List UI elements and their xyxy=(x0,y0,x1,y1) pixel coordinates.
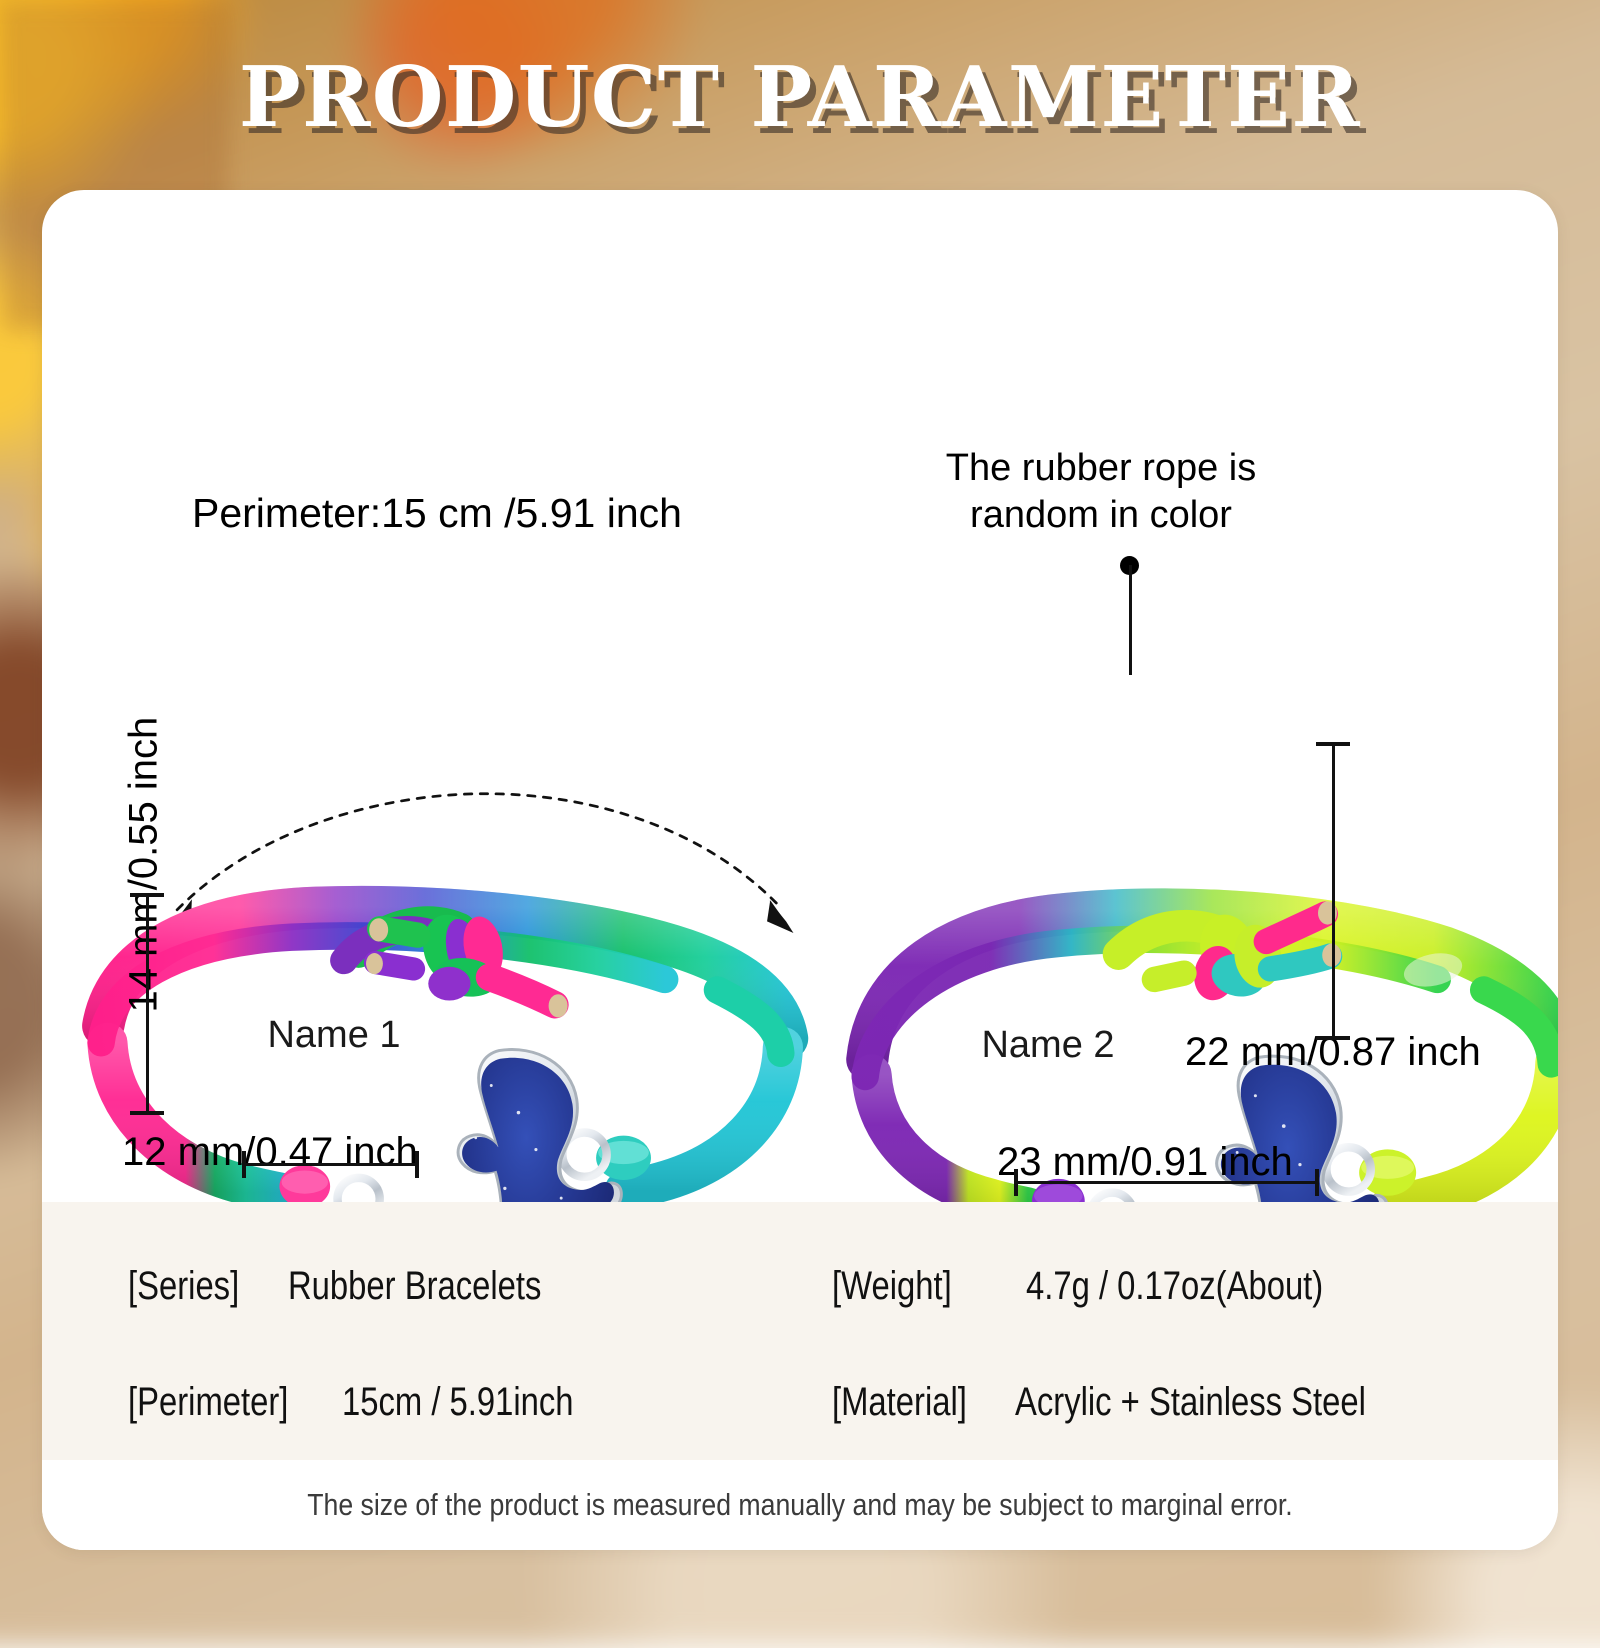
product-parameter-card: Name 1 Name 2 Perimeter:15 cm /5.91 inch… xyxy=(42,190,1558,1550)
spec-row-material: [Material] Acrylic + Stainless Steel xyxy=(832,1380,1442,1425)
left-height-cap-bottom xyxy=(130,1111,164,1115)
disclaimer-strip: The size of the product is measured manu… xyxy=(42,1460,1558,1550)
left-rope-knot-teal xyxy=(596,1136,651,1180)
left-width-cap-left xyxy=(242,1151,246,1178)
perimeter-annotation-label: Perimeter:15 cm /5.91 inch xyxy=(192,490,682,537)
right-height-cap-top xyxy=(1316,742,1350,746)
right-height-cap-bottom xyxy=(1316,1036,1350,1040)
right-engraved-name: Name 2 xyxy=(970,1024,1126,1067)
spec-value-perimeter: 15cm / 5.91inch xyxy=(342,1380,574,1425)
rope-color-note: The rubber rope is random in color xyxy=(931,445,1271,539)
right-rope-knot-lime xyxy=(1359,1149,1416,1195)
spec-value-series: Rubber Bracelets xyxy=(288,1264,541,1309)
spec-key-series: [Series] xyxy=(128,1264,239,1309)
left-height-dimension-line xyxy=(146,893,149,1115)
left-height-label: 14 mm/0.55 inch xyxy=(122,733,167,1013)
spec-key-material: [Material] xyxy=(832,1380,967,1425)
right-knot xyxy=(1119,901,1342,1004)
left-knot xyxy=(344,907,568,1017)
right-width-label: 23 mm/0.91 inch xyxy=(997,1140,1293,1185)
spec-row-perimeter: [Perimeter] 15cm / 5.91inch xyxy=(128,1380,624,1425)
spec-row-series: [Series] Rubber Bracelets xyxy=(128,1264,597,1309)
right-height-dimension-line xyxy=(1332,742,1335,1040)
left-width-cap-right xyxy=(415,1151,419,1178)
right-width-cap-left xyxy=(1014,1169,1018,1196)
product-illustration-stage: Name 1 Name 2 Perimeter:15 cm /5.91 inch… xyxy=(42,190,1558,1202)
left-height-cap-top xyxy=(130,893,164,897)
page-title: PRODUCT PARAMETER xyxy=(8,48,1592,146)
leader-line xyxy=(1129,565,1132,675)
specification-band: [Series] Rubber Bracelets [Perimeter] 15… xyxy=(42,1202,1558,1460)
right-width-cap-right xyxy=(1315,1169,1319,1196)
left-width-label: 12 mm/0.47 inch xyxy=(122,1130,418,1175)
spec-key-perimeter: [Perimeter] xyxy=(128,1380,288,1425)
spec-value-material: Acrylic + Stainless Steel xyxy=(1015,1380,1366,1425)
left-engraved-name: Name 1 xyxy=(256,1014,412,1057)
spec-key-weight: [Weight] xyxy=(832,1264,952,1309)
spec-value-weight: 4.7g / 0.17oz(About) xyxy=(1026,1264,1323,1309)
disclaimer-text: The size of the product is measured manu… xyxy=(307,1487,1292,1523)
perimeter-arc xyxy=(167,794,794,933)
right-width-dimension-line xyxy=(1014,1181,1319,1184)
left-width-dimension-line xyxy=(242,1163,419,1166)
spec-row-weight: [Weight] 4.7g / 0.17oz(About) xyxy=(832,1264,1388,1309)
